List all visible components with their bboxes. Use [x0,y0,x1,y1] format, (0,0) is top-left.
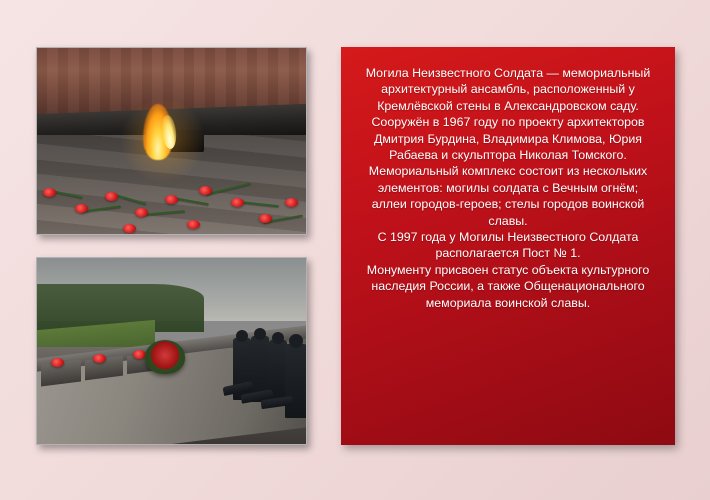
photo-heroes-alley [36,257,307,445]
carnation-icon [123,224,136,233]
paragraph-complex-elements: Мемориальный комплекс состоит из несколь… [363,163,653,229]
paragraph-definition: Могила Неизвестного Солдата — мемориальн… [363,65,653,163]
officer-head [289,334,303,348]
carnation-icon [285,198,298,207]
carnation-icon [51,358,64,367]
carnation-icon [75,204,88,213]
carnation-icon [135,208,148,217]
description-panel: Могила Неизвестного Солдата — мемориальн… [341,47,675,445]
soldier-head [272,332,284,344]
carnation-icon [43,188,56,197]
carnation-icon [165,195,178,204]
paragraph-heritage-status: Монументу присвоен статус объекта культу… [363,262,653,311]
carnation-icon [199,186,212,195]
soldier-head [254,328,266,340]
carnation-icon [259,214,272,223]
carnation-icon [187,220,200,229]
carnation-icon [105,192,118,201]
officer-figure [285,344,307,418]
photo-eternal-flame [36,47,307,235]
paragraph-post-no-1: С 1997 года у Могилы Неизвестного Солдат… [363,229,653,262]
slide: Могила Неизвестного Солдата — мемориальн… [0,0,710,500]
carnation-icon [231,198,244,207]
wreath-icon [145,340,185,374]
soldier-head [236,330,248,342]
carnation-icon [93,354,106,363]
